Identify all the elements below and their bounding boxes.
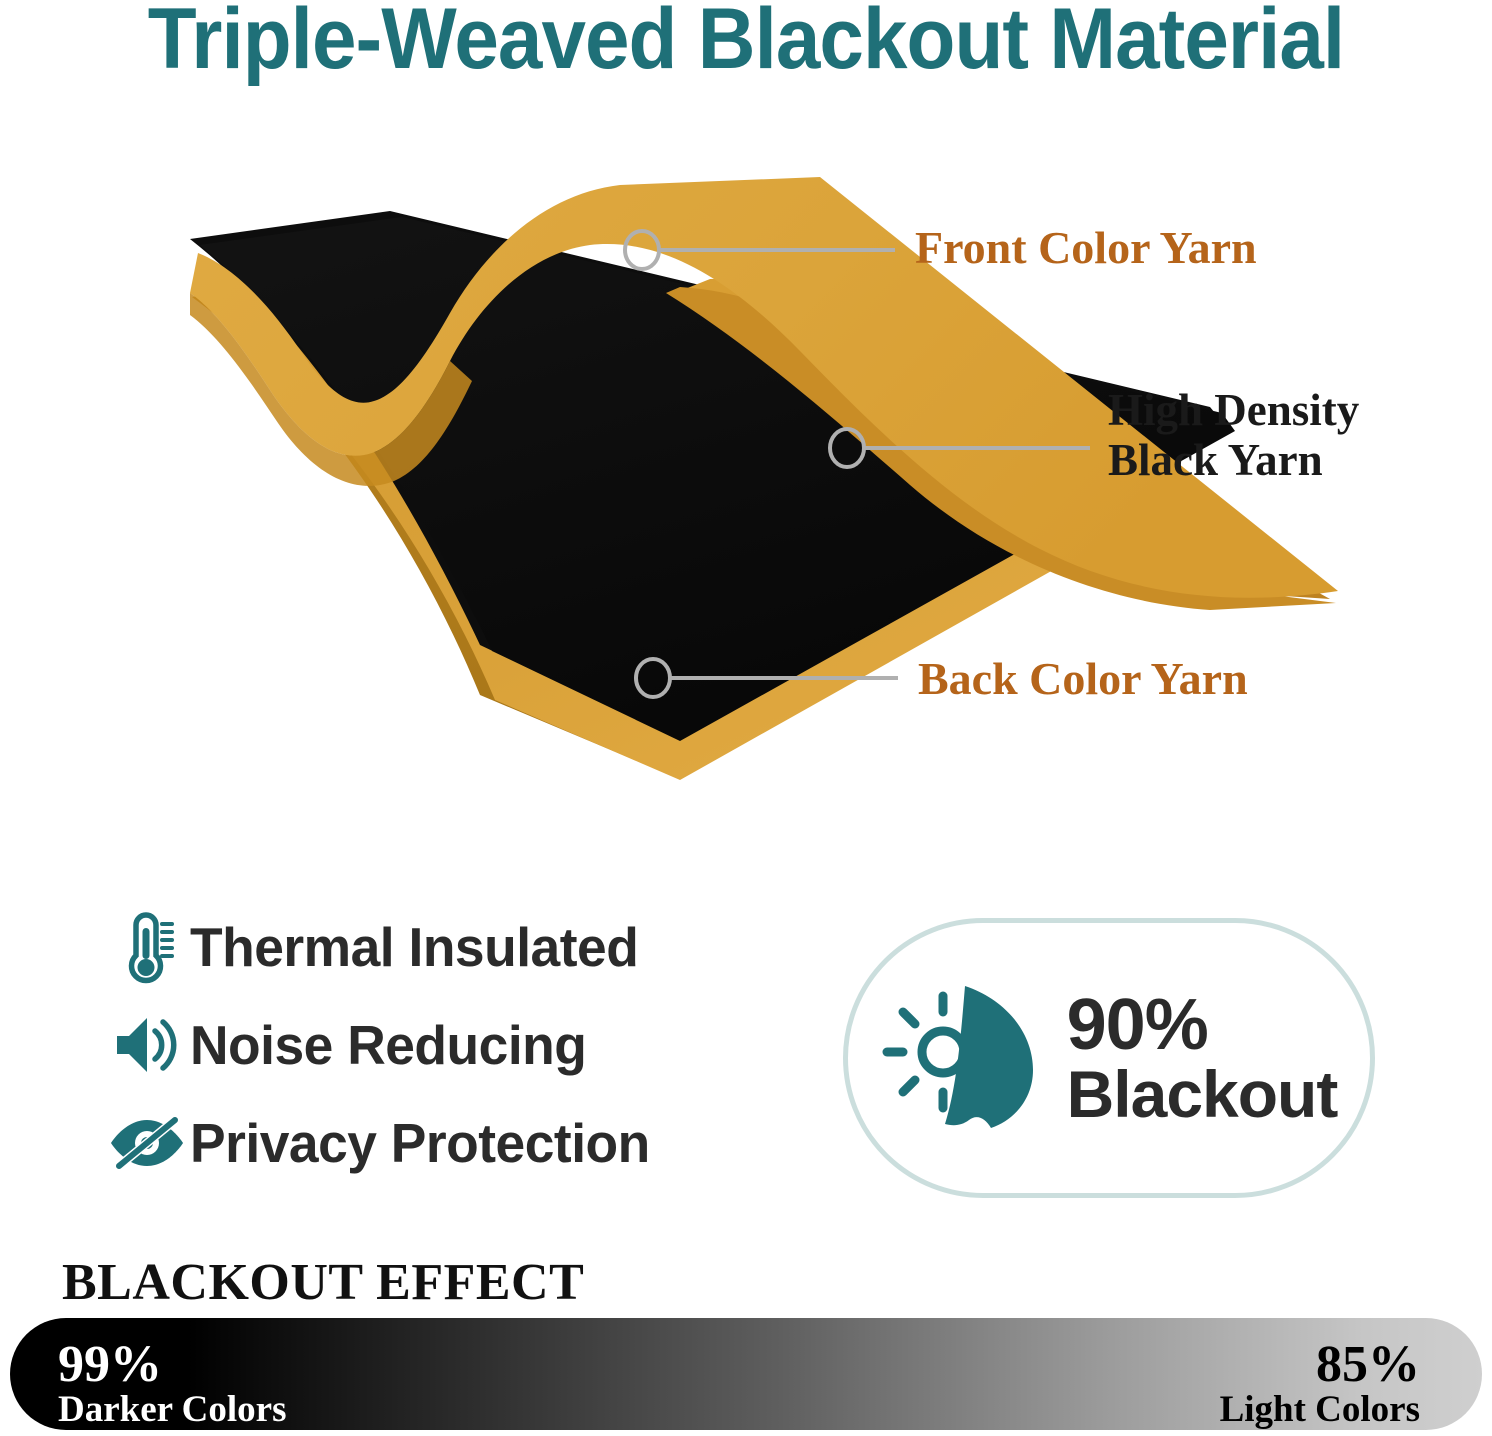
light-colors-stat: 85% Light Colors [1220, 1338, 1420, 1429]
feature-label-privacy-protection: Privacy Protection [190, 1111, 650, 1175]
feature-label-noise-reducing: Noise Reducing [190, 1013, 586, 1077]
label-back-color-yarn: Back Color Yarn [918, 653, 1248, 705]
light-colors-caption: Light Colors [1220, 1391, 1420, 1429]
blackout-effect-heading: BLACKOUT EFFECT [62, 1253, 584, 1312]
feature-row-thermal-insulated: Thermal Insulated [104, 898, 804, 996]
darker-colors-percent: 99% [58, 1338, 286, 1391]
page-title: Triple-Weaved Blackout Material [52, 0, 1440, 84]
sun-blocked-by-curtain-icon [881, 974, 1049, 1142]
label-high-density-black-yarn: High Density Black Yarn [1108, 385, 1359, 486]
blackout-effect-gradient-bar: 99% Darker Colors 85% Light Colors [10, 1318, 1482, 1430]
blackout-percentage-badge: 90% Blackout [843, 918, 1375, 1198]
light-colors-percent: 85% [1220, 1338, 1420, 1391]
thermometer-icon [104, 909, 190, 985]
blackout-badge-text: 90% Blackout [1067, 989, 1338, 1127]
darker-colors-stat: 99% Darker Colors [58, 1338, 286, 1429]
eye-slash-icon [104, 1114, 190, 1172]
label-line-1: High Density [1108, 385, 1359, 435]
speaker-volume-icon [104, 1013, 190, 1077]
feature-row-noise-reducing: Noise Reducing [104, 996, 804, 1094]
feature-list: Thermal Insulated Noise Reducing [104, 898, 804, 1192]
feature-label-thermal-insulated: Thermal Insulated [190, 915, 638, 979]
blackout-percent-value: 90% [1067, 989, 1338, 1061]
feature-row-privacy-protection: Privacy Protection [104, 1094, 804, 1192]
blackout-word-label: Blackout [1067, 1061, 1338, 1127]
darker-colors-caption: Darker Colors [58, 1391, 286, 1429]
label-line-2: Black Yarn [1108, 435, 1359, 485]
label-front-color-yarn: Front Color Yarn [915, 222, 1257, 274]
